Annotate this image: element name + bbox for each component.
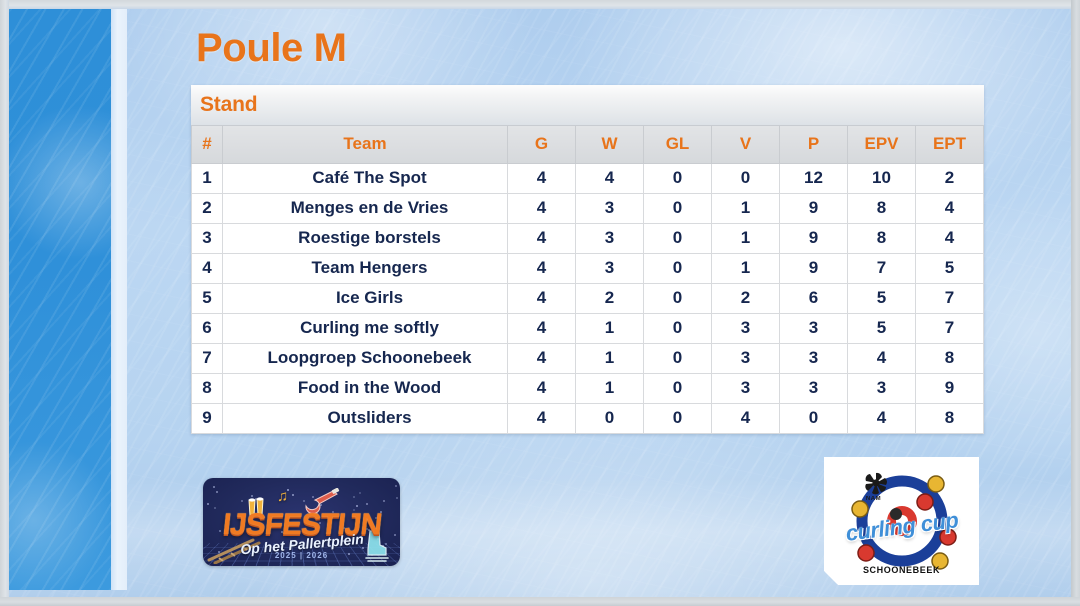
cell-rank: 7 [192, 343, 223, 373]
column-header-team: Team [223, 126, 508, 163]
cell-v: 0 [712, 163, 780, 193]
table-row: 1Café The Spot440012102 [192, 163, 984, 193]
cell-v: 1 [712, 223, 780, 253]
cell-rank: 9 [192, 403, 223, 433]
cell-ept: 7 [916, 283, 984, 313]
cell-p: 9 [780, 253, 848, 283]
cell-rank: 3 [192, 223, 223, 253]
cell-p: 9 [780, 193, 848, 223]
cell-epv: 4 [848, 343, 916, 373]
cell-gl: 0 [644, 313, 712, 343]
cell-w: 1 [576, 343, 644, 373]
nam-label: NAM [866, 496, 881, 502]
cell-gl: 0 [644, 343, 712, 373]
cell-rank: 8 [192, 373, 223, 403]
standings-panel-title: Stand [200, 93, 257, 117]
cell-epv: 5 [848, 283, 916, 313]
cell-gl: 0 [644, 403, 712, 433]
cell-gl: 0 [644, 373, 712, 403]
cell-rank: 1 [192, 163, 223, 193]
cell-rank: 2 [192, 193, 223, 223]
cell-team-name: Loopgroep Schoonebeek [223, 343, 508, 373]
cell-v: 1 [712, 193, 780, 223]
cell-v: 1 [712, 253, 780, 283]
standings-card-header: Stand [191, 85, 984, 126]
column-header-ept: EPT [916, 126, 984, 163]
star-dot [394, 534, 396, 536]
cell-ept: 8 [916, 343, 984, 373]
cell-w: 0 [576, 403, 644, 433]
cell-team-name: Outsliders [223, 403, 508, 433]
standings-table-head: # Team G W GL V P EPV EPT [192, 126, 984, 163]
cell-team-name: Team Hengers [223, 253, 508, 283]
page-title: Poule M [196, 26, 347, 71]
cell-g: 4 [508, 283, 576, 313]
cell-w: 3 [576, 193, 644, 223]
cell-epv: 5 [848, 313, 916, 343]
table-row: 5Ice Girls4202657 [192, 283, 984, 313]
table-row: 4Team Hengers4301975 [192, 253, 984, 283]
cell-v: 4 [712, 403, 780, 433]
cell-epv: 8 [848, 193, 916, 223]
cell-p: 9 [780, 223, 848, 253]
column-header-epv: EPV [848, 126, 916, 163]
cell-epv: 7 [848, 253, 916, 283]
curling-cup-logo: NAM curling cup SCHOONEBEEK [824, 457, 979, 585]
slide-edge-left [0, 0, 9, 606]
table-row: 3Roestige borstels4301984 [192, 223, 984, 253]
ijsfestijn-years: 2025 | 2026 [275, 551, 328, 560]
table-row: 2Menges en de Vries4301984 [192, 193, 984, 223]
cell-team-name: Curling me softly [223, 313, 508, 343]
cell-g: 4 [508, 313, 576, 343]
cell-g: 4 [508, 193, 576, 223]
cell-ept: 8 [916, 403, 984, 433]
cell-team-name: Menges en de Vries [223, 193, 508, 223]
cell-p: 6 [780, 283, 848, 313]
left-band-frost-texture [8, 8, 111, 590]
star-dot [292, 494, 294, 496]
cell-w: 2 [576, 283, 644, 313]
star-dot [353, 496, 355, 498]
cell-team-name: Café The Spot [223, 163, 508, 193]
cell-gl: 0 [644, 163, 712, 193]
cell-team-name: Ice Girls [223, 283, 508, 313]
column-header-p: P [780, 126, 848, 163]
cell-g: 4 [508, 343, 576, 373]
cell-w: 3 [576, 223, 644, 253]
cell-v: 2 [712, 283, 780, 313]
band-separator-stripe [111, 8, 127, 590]
cell-rank: 6 [192, 313, 223, 343]
table-header-row: # Team G W GL V P EPV EPT [192, 126, 984, 163]
star-dot [359, 492, 361, 494]
cell-p: 3 [780, 373, 848, 403]
star-dot [383, 500, 385, 502]
star-dot [216, 491, 218, 493]
cell-gl: 0 [644, 253, 712, 283]
cell-p: 12 [780, 163, 848, 193]
cell-ept: 7 [916, 313, 984, 343]
standings-table: # Team G W GL V P EPV EPT 1Café The Spot… [191, 126, 984, 434]
column-header-rank: # [192, 126, 223, 163]
column-header-gl: GL [644, 126, 712, 163]
slide-canvas: Poule M Stand # Team G W GL V P E [0, 0, 1080, 606]
cell-epv: 10 [848, 163, 916, 193]
cell-epv: 4 [848, 403, 916, 433]
star-dot [213, 486, 215, 488]
star-dot [207, 503, 209, 505]
cell-g: 4 [508, 163, 576, 193]
cell-v: 3 [712, 373, 780, 403]
cell-w: 1 [576, 313, 644, 343]
cell-v: 3 [712, 313, 780, 343]
cell-epv: 3 [848, 373, 916, 403]
music-note-icon: ♫ [277, 488, 288, 505]
cell-ept: 4 [916, 223, 984, 253]
standings-table-body: 1Café The Spot4400121022Menges en de Vri… [192, 163, 984, 433]
cell-p: 3 [780, 313, 848, 343]
cell-ept: 2 [916, 163, 984, 193]
cell-g: 4 [508, 253, 576, 283]
cell-g: 4 [508, 403, 576, 433]
slide-edge-bottom [0, 597, 1080, 606]
table-row: 6Curling me softly4103357 [192, 313, 984, 343]
cell-epv: 8 [848, 223, 916, 253]
cell-ept: 9 [916, 373, 984, 403]
cell-p: 3 [780, 343, 848, 373]
star-dot [356, 505, 358, 507]
standings-card: Stand # Team G W GL V P EPV EPT [191, 85, 984, 434]
column-header-g: G [508, 126, 576, 163]
table-row: 7Loopgroep Schoonebeek4103348 [192, 343, 984, 373]
cell-g: 4 [508, 373, 576, 403]
cell-w: 4 [576, 163, 644, 193]
cell-p: 0 [780, 403, 848, 433]
star-dot [395, 485, 397, 487]
cell-g: 4 [508, 223, 576, 253]
cell-gl: 0 [644, 223, 712, 253]
cell-w: 1 [576, 373, 644, 403]
slide-edge-top [0, 0, 1080, 9]
cell-rank: 4 [192, 253, 223, 283]
table-row: 9Outsliders4004048 [192, 403, 984, 433]
cell-rank: 5 [192, 283, 223, 313]
cell-w: 3 [576, 253, 644, 283]
star-dot [396, 497, 398, 499]
slide-edge-right [1071, 0, 1080, 606]
column-header-v: V [712, 126, 780, 163]
cell-team-name: Food in the Wood [223, 373, 508, 403]
ijsfestijn-logo: ♫ IJSFESTIJN Op het Pallertplein 2025 | … [203, 478, 400, 566]
cell-v: 3 [712, 343, 780, 373]
star-dot [219, 530, 221, 532]
cell-ept: 5 [916, 253, 984, 283]
cell-ept: 4 [916, 193, 984, 223]
table-row: 8Food in the Wood4103339 [192, 373, 984, 403]
column-header-w: W [576, 126, 644, 163]
star-dot [366, 503, 368, 505]
cell-team-name: Roestige borstels [223, 223, 508, 253]
star-dot [214, 507, 216, 509]
left-accent-band [8, 8, 111, 590]
schoonebeek-label: SCHOONEBEEK [863, 565, 940, 575]
cell-gl: 0 [644, 283, 712, 313]
cell-gl: 0 [644, 193, 712, 223]
